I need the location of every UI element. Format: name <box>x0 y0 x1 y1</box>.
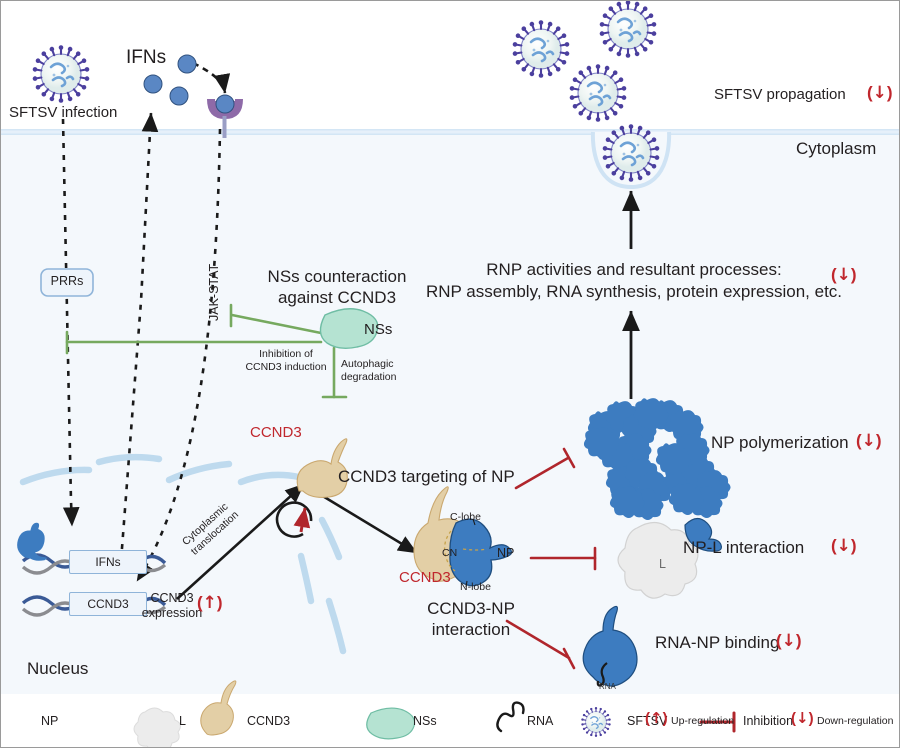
figure-canvas: SFTSV infection IFNs SFTSV propagation (… <box>0 0 900 748</box>
legend-up-regulation-icon: (↑) <box>645 709 668 727</box>
nss-counteraction-label: NSs counteraction against CCND3 <box>257 266 417 309</box>
sftsv-virion <box>33 45 90 103</box>
rna-np-binding-label: RNA-NP binding <box>655 633 779 653</box>
ccnd3-expression-line2: expression <box>142 606 202 620</box>
legend-label-rna: RNA <box>527 714 553 728</box>
l-protein <box>618 518 721 598</box>
sftsv-virion <box>600 0 657 58</box>
rna-np-binding-downregulation-icon: (↓) <box>776 631 802 651</box>
n-lobe-label: N-lobe <box>460 581 491 593</box>
ifnar-receptor <box>207 95 243 138</box>
inhibition-line2: CCND3 induction <box>245 361 326 373</box>
cn-label: CN <box>442 547 457 559</box>
ccnd3-expression-line1: CCND3 <box>150 591 193 605</box>
inhibition-of-ccnd3-induction-label: Inhibition of CCND3 induction <box>230 348 342 373</box>
cytoplasm-label: Cytoplasm <box>796 139 876 159</box>
ifns-gene-box: IFNs <box>69 550 147 574</box>
nss-counteraction-line2: against CCND3 <box>278 288 396 307</box>
ccnd3-free-label: CCND3 <box>250 424 302 441</box>
sftsv-propagation-downregulation-icon: (↓) <box>867 83 893 103</box>
jak-stat-label: JAK-STAT <box>207 264 221 321</box>
rnp-activities-downregulation-icon: (↓) <box>831 265 857 285</box>
sftsv-virion <box>513 20 570 78</box>
translocation-arrow <box>277 503 311 537</box>
prrs-label: PRRs <box>46 274 88 288</box>
nss-counteraction-line1: NSs counteraction <box>268 267 407 286</box>
legend-label-up-regulation: Up-regulation <box>671 715 734 727</box>
np-l-interaction-label: NP-L interaction <box>683 538 804 558</box>
ifns-label: IFNs <box>126 47 166 69</box>
autophagic-degradation-label: Autophagic degradation <box>341 358 396 384</box>
legend-label-l: L <box>179 714 186 728</box>
np-l-interaction-downregulation-icon: (↓) <box>831 536 857 556</box>
rnp-line2: RNP assembly, RNA synthesis, protein exp… <box>426 282 842 301</box>
legend-label-inhibition: Inhibition <box>743 714 793 728</box>
ccnd3-targeting-of-np-label: CCND3 targeting of NP <box>338 467 515 487</box>
ccnd3-complex-label: CCND3 <box>399 569 451 586</box>
rnp-line1: RNP activities and resultant processes: <box>486 260 781 279</box>
rna-np-complex <box>583 606 637 686</box>
ccnd3-np-line2: interaction <box>432 620 510 639</box>
ccnd3-np-interaction-label: CCND3-NP interaction <box>407 598 535 641</box>
autophagic-line2: degradation <box>341 371 396 383</box>
inhibition-line1: Inhibition of <box>259 348 313 360</box>
c-lobe-label: C-lobe <box>450 511 481 523</box>
np-polymerization-downregulation-icon: (↓) <box>856 431 882 451</box>
ccnd3-np-line1: CCND3-NP <box>427 599 515 618</box>
legend-label-down-regulation: Down-regulation <box>817 715 893 727</box>
legend-label-np: NP <box>41 714 58 728</box>
sftsv-propagation-label: SFTSV propagation <box>714 86 846 103</box>
l-protein-label: L <box>659 557 666 571</box>
legend-label-nss: NSs <box>413 714 437 728</box>
rnp-activities-label: RNP activities and resultant processes: … <box>414 259 854 304</box>
rna-small-label: RNA <box>599 682 616 691</box>
nucleus-label: Nucleus <box>27 659 88 679</box>
legend-down-regulation-icon: (↓) <box>791 709 814 727</box>
legend-label-ccnd3: CCND3 <box>247 714 290 728</box>
sftsv-infection-label: SFTSV infection <box>9 104 117 121</box>
ccnd3-expression-upregulation-icon: (↑) <box>197 593 223 613</box>
np-complex-label: NP <box>497 546 514 560</box>
np-polymerization-cluster <box>584 398 731 520</box>
sftsv-virion <box>570 64 627 122</box>
np-polymerization-label: NP polymerization <box>711 433 849 453</box>
nss-label: NSs <box>364 321 392 338</box>
autophagic-line1: Autophagic <box>341 358 394 370</box>
